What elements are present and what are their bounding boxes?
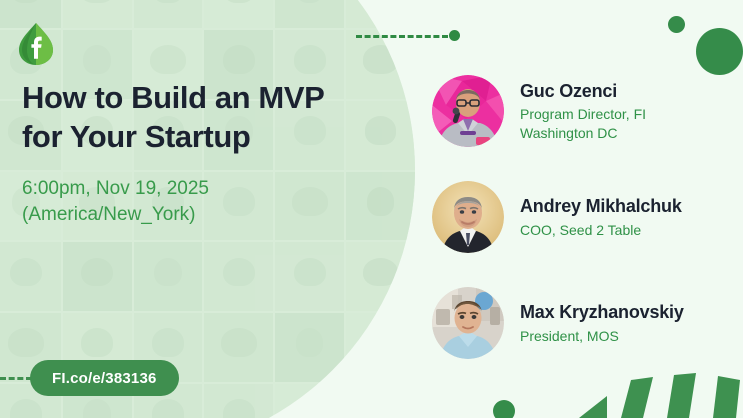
avatar-image <box>432 287 504 359</box>
speaker-role: President, MOS <box>520 327 684 345</box>
event-title-line-2: for Your Startup <box>22 117 402 156</box>
speaker-text: Guc Ozenci Program Director, FI Washingt… <box>520 80 646 142</box>
avatar-guc-ozenci <box>432 75 504 147</box>
event-url-pill[interactable]: FI.co/e/383136 <box>30 360 179 396</box>
event-title: How to Build an MVP for Your Startup <box>22 78 402 156</box>
avatar-andrey-mikhalchuk <box>432 181 504 253</box>
speaker-name: Andrey Mikhalchuk <box>520 195 682 218</box>
avatar-image <box>432 181 504 253</box>
event-date-time: 6:00pm, Nov 19, 2025 <box>22 176 382 202</box>
event-promo-card: How to Build an MVP for Your Startup 6:0… <box>0 0 743 418</box>
decor-dot-bottom <box>493 400 515 418</box>
event-datetime: 6:00pm, Nov 19, 2025 (America/New_York) <box>22 176 382 228</box>
speaker-item: Max Kryzhanovskiy President, MOS <box>432 270 738 376</box>
event-timezone: (America/New_York) <box>22 202 382 228</box>
speaker-role: Program Director, FI Washington DC <box>520 105 646 142</box>
speaker-name: Max Kryzhanovskiy <box>520 301 684 324</box>
event-title-line-1: How to Build an MVP <box>22 78 402 117</box>
avatar-max-kryzhanovskiy <box>432 287 504 359</box>
event-url-label: FI.co/e/383136 <box>52 370 157 387</box>
decor-dashed-connector-dot <box>449 30 460 41</box>
decor-dashed-connector <box>356 35 448 38</box>
speaker-text: Andrey Mikhalchuk COO, Seed 2 Table <box>520 195 682 239</box>
avatar-image <box>432 75 504 147</box>
speaker-name: Guc Ozenci <box>520 80 646 103</box>
decor-dot-small <box>668 16 685 33</box>
speaker-text: Max Kryzhanovskiy President, MOS <box>520 301 684 345</box>
leaf-icon <box>16 22 56 66</box>
founder-institute-leaf-logo[interactable] <box>16 22 56 66</box>
speaker-item: Andrey Mikhalchuk COO, Seed 2 Table <box>432 164 738 270</box>
speaker-item: Guc Ozenci Program Director, FI Washingt… <box>432 58 738 164</box>
speaker-list: Guc Ozenci Program Director, FI Washingt… <box>432 58 738 376</box>
speaker-role: COO, Seed 2 Table <box>520 221 682 239</box>
decor-dashed-pill-connector <box>0 377 32 380</box>
